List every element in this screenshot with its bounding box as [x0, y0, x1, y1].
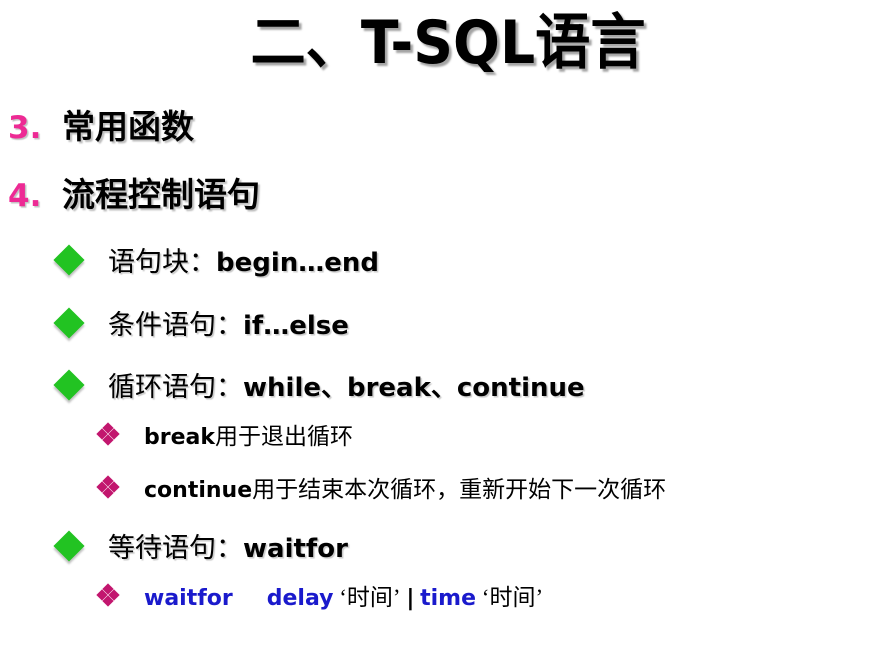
bullet-loop-statement-en: while、break、continue	[243, 373, 585, 403]
green-diamond-bullet-icon	[53, 244, 84, 275]
subbullet-break-text: break用于退出循环	[144, 417, 353, 451]
waitfor-option-delay: delay	[267, 586, 334, 611]
bullet-statement-block-en: begin…end	[216, 248, 379, 278]
green-diamond-bullet-icon	[53, 530, 84, 561]
magenta-quad-diamond-bullet-icon	[98, 424, 118, 444]
bullet-loop-statement-text: 循环语句：while、break、continue	[108, 365, 585, 404]
green-diamond-bullet-icon	[53, 307, 84, 338]
waitfor-arg-time: ‘时间’	[482, 585, 543, 610]
bullet-loop-statement-cn: 循环语句：	[108, 372, 243, 402]
subbullet-continue: continue用于结束本次循环，重新开始下一次循环	[98, 470, 666, 504]
subbullet-break-keyword: break	[144, 425, 215, 450]
subbullet-continue-text: continue用于结束本次循环，重新开始下一次循环	[144, 470, 666, 504]
bullet-wait-statement: 等待语句：waitfor	[58, 526, 348, 565]
bullet-wait-statement-en: waitfor	[243, 534, 348, 564]
outline-item-3-number: 3.	[8, 110, 62, 146]
subbullet-waitfor-syntax-text: waitfordelay ‘时间’ | time ‘时间’	[144, 578, 543, 612]
bullet-statement-block-cn: 语句块：	[108, 247, 216, 277]
outline-item-3-label: 常用函数	[62, 100, 194, 148]
subbullet-waitfor-syntax: waitfordelay ‘时间’ | time ‘时间’	[98, 578, 543, 612]
bullet-conditional-statement-text: 条件语句：if…else	[108, 303, 349, 342]
bullet-conditional-statement-cn: 条件语句：	[108, 310, 243, 340]
subbullet-break: break用于退出循环	[98, 417, 353, 451]
subbullet-continue-cn: 用于结束本次循环，重新开始下一次循环	[252, 477, 666, 502]
waitfor-arg-delay: ‘时间’	[339, 585, 400, 610]
bullet-statement-block-text: 语句块：begin…end	[108, 240, 379, 279]
outline-item-4-label: 流程控制语句	[62, 168, 260, 216]
subbullet-break-cn: 用于退出循环	[215, 424, 353, 449]
magenta-quad-diamond-bullet-icon	[98, 585, 118, 605]
outline-item-4: 4. 流程控制语句	[8, 168, 260, 216]
green-diamond-bullet-icon	[53, 369, 84, 400]
bullet-loop-statement: 循环语句：while、break、continue	[58, 365, 585, 404]
slide-title: 二、T-SQL语言	[36, 2, 860, 84]
outline-item-3: 3. 常用函数	[8, 100, 194, 148]
subbullet-continue-keyword: continue	[144, 478, 252, 503]
bullet-conditional-statement: 条件语句：if…else	[58, 303, 349, 342]
waitfor-keyword: waitfor	[144, 586, 233, 611]
magenta-quad-diamond-bullet-icon	[98, 477, 118, 497]
bullet-conditional-statement-en: if…else	[243, 311, 349, 341]
syntax-separator-pipe: |	[406, 586, 414, 611]
bullet-statement-block: 语句块：begin…end	[58, 240, 379, 279]
outline-item-4-number: 4.	[8, 178, 62, 214]
waitfor-option-time: time	[420, 586, 476, 611]
bullet-wait-statement-cn: 等待语句：	[108, 533, 243, 563]
bullet-wait-statement-text: 等待语句：waitfor	[108, 526, 348, 565]
